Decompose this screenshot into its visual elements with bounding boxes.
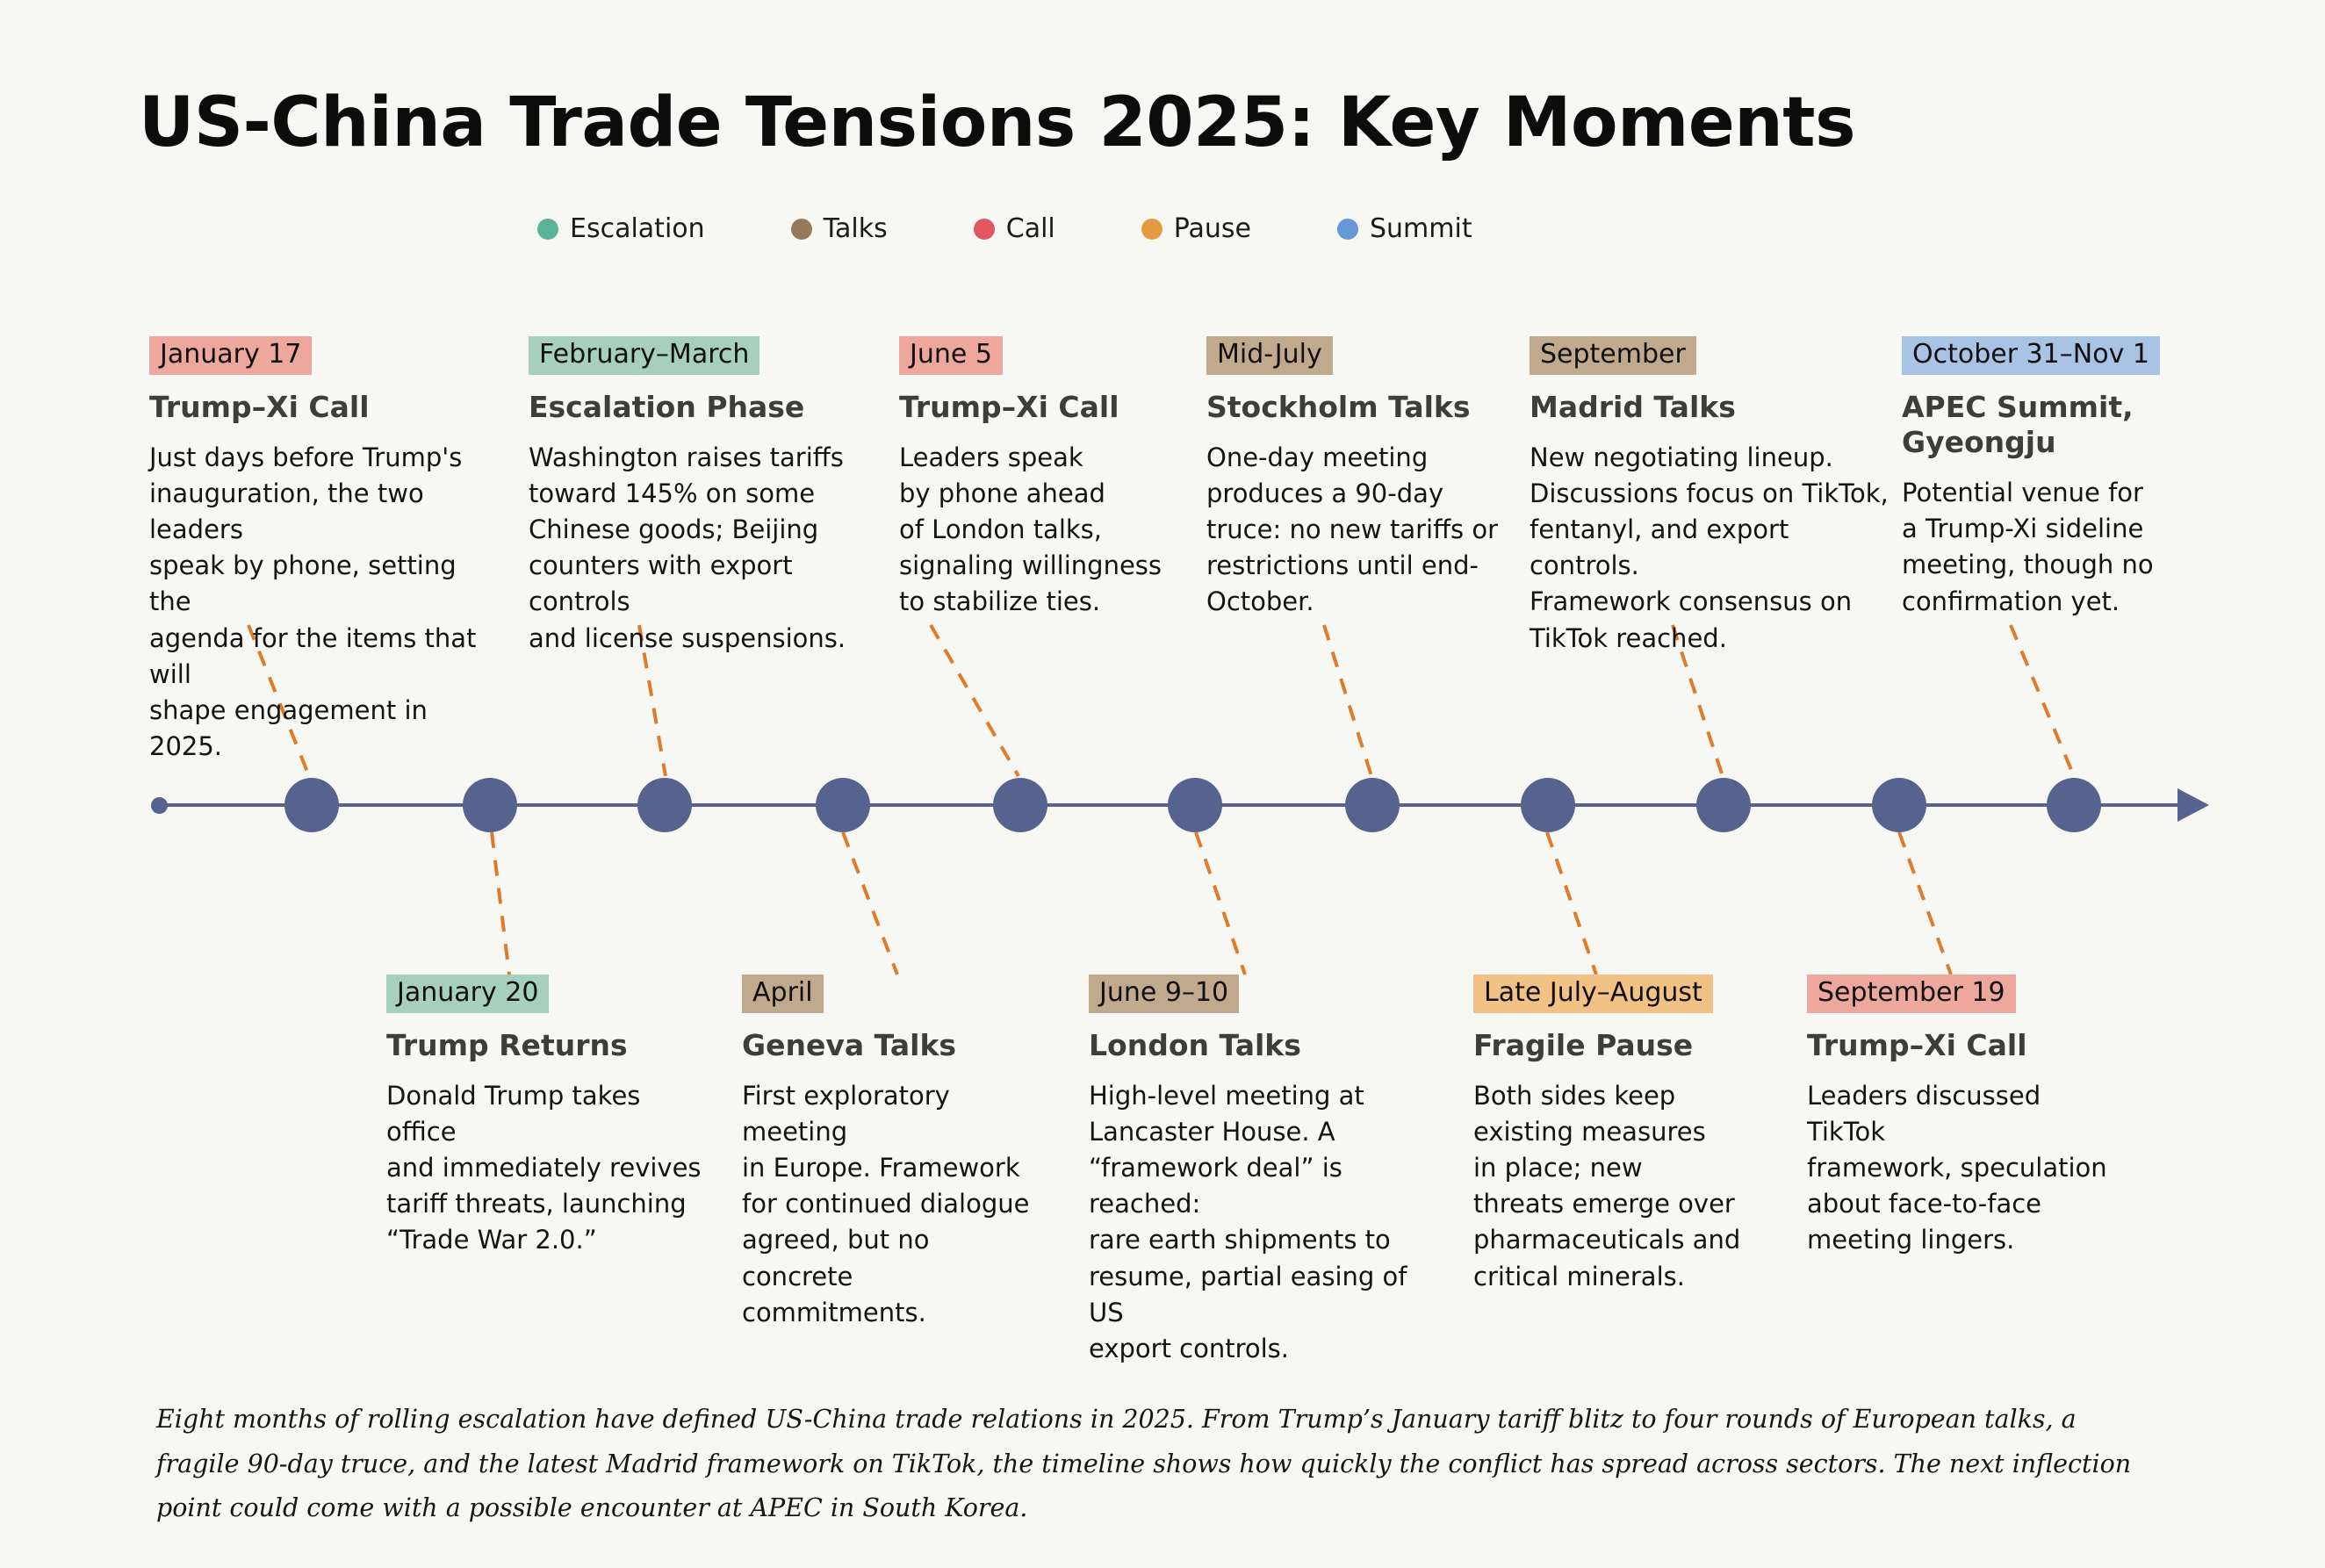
- event-card-february-march[interactable]: February–March Escalation Phase Washingt…: [529, 336, 880, 657]
- event-title: Stockholm Talks: [1206, 390, 1509, 425]
- event-date-chip: April: [742, 975, 824, 1013]
- legend-label-call: Call: [1006, 213, 1055, 244]
- legend-dot-pause: [1141, 219, 1162, 240]
- leader-line: [931, 625, 1019, 776]
- legend-dot-summit: [1337, 219, 1358, 240]
- event-title: Trump Returns: [386, 1028, 702, 1063]
- event-date-chip: January 17: [149, 336, 312, 375]
- event-date-chip: June 9–10: [1089, 975, 1239, 1013]
- event-date-chip: January 20: [386, 975, 549, 1013]
- timeline-node[interactable]: [1521, 778, 1575, 832]
- event-title: Trump–Xi Call: [899, 390, 1184, 425]
- timeline-infographic: US-China Trade Tensions 2025: Key Moment…: [0, 0, 2325, 1568]
- leader-line: [843, 832, 897, 975]
- event-description: Donald Trump takes office and immediatel…: [386, 1078, 702, 1259]
- event-title: Madrid Talks: [1530, 390, 1898, 425]
- leader-line: [2011, 625, 2074, 776]
- timeline-node[interactable]: [1696, 778, 1751, 832]
- event-description: Washington raises tariffs toward 145% on…: [529, 440, 880, 657]
- event-card-september[interactable]: September Madrid Talks New negotiating l…: [1530, 336, 1898, 657]
- event-card-january-17[interactable]: January 17 Trump–Xi Call Just days befor…: [149, 336, 487, 765]
- leader-line: [1899, 832, 1951, 975]
- event-card-mid-july[interactable]: Mid-July Stockholm Talks One-day meeting…: [1206, 336, 1509, 621]
- event-description: One-day meeting produces a 90-day truce:…: [1206, 440, 1509, 621]
- event-date-chip: October 31–Nov 1: [1902, 336, 2160, 375]
- footer-caption: Eight months of rolling escalation have …: [156, 1398, 2167, 1531]
- event-title: Geneva Talks: [742, 1028, 1045, 1063]
- leader-line: [1196, 832, 1245, 975]
- event-card-june-5[interactable]: June 5 Trump–Xi Call Leaders speak by ph…: [899, 336, 1184, 621]
- event-title: Fragile Pause: [1473, 1028, 1781, 1063]
- leader-line: [1547, 832, 1596, 975]
- event-title: Escalation Phase: [529, 390, 880, 425]
- legend: Escalation Talks Call Pause Summit: [537, 213, 1472, 244]
- legend-dot-escalation: [537, 219, 558, 240]
- event-card-january-20[interactable]: January 20 Trump Returns Donald Trump ta…: [386, 975, 702, 1259]
- timeline-start-marker: [151, 797, 168, 814]
- event-date-chip: Late July–August: [1473, 975, 1713, 1013]
- timeline-node[interactable]: [637, 778, 692, 832]
- event-description: Both sides keep existing measures in pla…: [1473, 1078, 1781, 1295]
- timeline-node[interactable]: [816, 778, 870, 832]
- event-card-september-19[interactable]: September 19 Trump–Xi Call Leaders discu…: [1807, 975, 2123, 1259]
- event-title: Trump–Xi Call: [149, 390, 487, 425]
- legend-item-pause: Pause: [1141, 213, 1251, 244]
- timeline-node[interactable]: [463, 778, 517, 832]
- legend-dot-talks: [791, 219, 812, 240]
- event-card-april[interactable]: April Geneva Talks First exploratory mee…: [742, 975, 1045, 1331]
- legend-label-pause: Pause: [1174, 213, 1251, 244]
- event-title: Trump–Xi Call: [1807, 1028, 2123, 1063]
- event-description: First exploratory meeting in Europe. Fra…: [742, 1078, 1045, 1331]
- event-card-late-july-august[interactable]: Late July–August Fragile Pause Both side…: [1473, 975, 1781, 1295]
- legend-label-escalation: Escalation: [570, 213, 705, 244]
- legend-label-talks: Talks: [824, 213, 888, 244]
- event-date-chip: September 19: [1807, 975, 2016, 1013]
- legend-item-summit: Summit: [1337, 213, 1472, 244]
- leader-line: [1324, 625, 1371, 776]
- event-date-chip: Mid-July: [1206, 336, 1333, 375]
- timeline-node[interactable]: [1345, 778, 1400, 832]
- event-description: Just days before Trump's inauguration, t…: [149, 440, 487, 766]
- timeline-node[interactable]: [993, 778, 1047, 832]
- event-date-chip: June 5: [899, 336, 1003, 375]
- event-title: London Talks: [1089, 1028, 1444, 1063]
- legend-item-call: Call: [974, 213, 1055, 244]
- event-date-chip: February–March: [529, 336, 759, 375]
- timeline-node[interactable]: [284, 778, 339, 832]
- event-card-june-9-10[interactable]: June 9–10 London Talks High-level meetin…: [1089, 975, 1444, 1367]
- timeline-arrow-icon: [2177, 788, 2209, 822]
- event-title: APEC Summit, Gyeongju: [1902, 390, 2196, 461]
- timeline-node[interactable]: [2047, 778, 2101, 832]
- event-description: Leaders discussed TikTok framework, spec…: [1807, 1078, 2123, 1259]
- legend-item-escalation: Escalation: [537, 213, 705, 244]
- leader-line: [492, 832, 509, 975]
- event-date-chip: September: [1530, 336, 1696, 375]
- event-card-october-31-nov-1[interactable]: October 31–Nov 1 APEC Summit, Gyeongju P…: [1902, 336, 2196, 620]
- event-description: Potential venue for a Trump-Xi sideline …: [1902, 475, 2196, 620]
- event-description: Leaders speak by phone ahead of London t…: [899, 440, 1184, 621]
- event-description: New negotiating lineup. Discussions focu…: [1530, 440, 1898, 657]
- event-description: High-level meeting at Lancaster House. A…: [1089, 1078, 1444, 1367]
- timeline-node[interactable]: [1168, 778, 1222, 832]
- page-title: US-China Trade Tensions 2025: Key Moment…: [139, 83, 1855, 162]
- legend-item-talks: Talks: [791, 213, 888, 244]
- legend-dot-call: [974, 219, 995, 240]
- legend-label-summit: Summit: [1370, 213, 1472, 244]
- timeline-node[interactable]: [1872, 778, 1926, 832]
